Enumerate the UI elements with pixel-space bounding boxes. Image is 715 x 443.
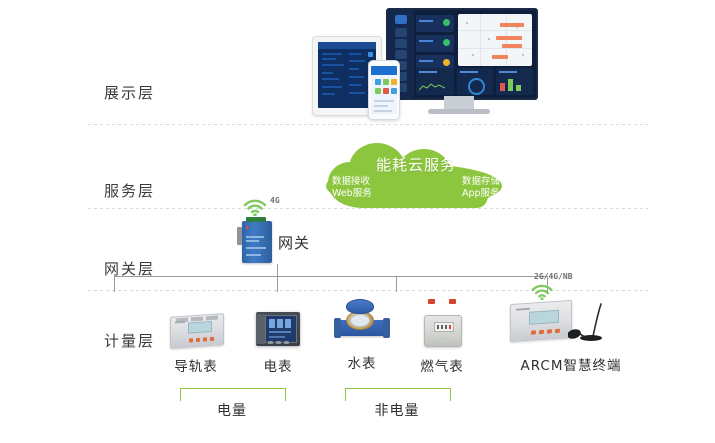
- gateway-trunk-line: [277, 264, 278, 276]
- meter-water: 水表: [324, 300, 400, 372]
- monitor-bottom-widgets: [416, 68, 533, 95]
- cloud-title: 能耗云服务: [318, 154, 514, 175]
- gateway-label: 网关: [278, 232, 310, 253]
- electric-meter-image: [240, 303, 316, 351]
- arcm-terminal-image: [496, 298, 646, 352]
- cloud-feature-column-right: 数据存储 App服务: [462, 176, 500, 200]
- sparkline-chart: [419, 82, 445, 92]
- monitor-screen: [386, 8, 538, 100]
- monitor-base: [428, 109, 490, 114]
- meter-drop-line-2: [277, 276, 278, 292]
- din-rail-meter-label: 导轨表: [158, 355, 234, 375]
- monitor-stand: [444, 96, 474, 110]
- electricity-group-label: 电量: [162, 400, 302, 420]
- antenna-icon: [568, 300, 612, 346]
- gateway-network-label: 4G: [270, 196, 280, 205]
- meter-bus-line: [114, 276, 547, 277]
- meter-drop-line-3: [396, 276, 397, 292]
- smartphone-device: [368, 60, 400, 120]
- meter-din-rail: 导轨表: [158, 303, 234, 375]
- layer-label-service: 服务层: [104, 180, 190, 201]
- meter-electric: 电表: [240, 303, 316, 375]
- architecture-diagram: 展示层 服务层 网关层 计量层: [0, 0, 715, 443]
- layer-separator-1: [88, 124, 648, 125]
- meter-drop-line-1: [114, 276, 115, 292]
- gateway-terminal-block: [246, 217, 266, 222]
- gas-meter-label: 燃气表: [404, 355, 480, 375]
- arcm-network-label: 2G/4G/NB: [534, 272, 573, 281]
- gateway-power-led: [246, 226, 249, 229]
- layer-label-display: 展示层: [104, 82, 190, 103]
- gateway-node: 4G 网关: [232, 196, 352, 256]
- gas-meter-image: [404, 303, 480, 351]
- wifi-icon: [242, 196, 268, 216]
- non-electricity-group-label: 非电量: [327, 400, 467, 420]
- gateway-connector: [237, 227, 242, 245]
- arcm-terminal-node: 2G/4G/NB ARCM智慧终端: [496, 282, 646, 374]
- electric-meter-label: 电表: [240, 355, 316, 375]
- cloud-feature-data-receive: 数据接收: [332, 176, 372, 188]
- arcm-terminal-label: ARCM智慧终端: [496, 354, 646, 374]
- water-meter-label: 水表: [324, 352, 400, 372]
- gateway-device-image: [242, 221, 272, 263]
- cloud-feature-app-service: App服务: [462, 188, 500, 200]
- tablet-header-bar: [318, 42, 376, 49]
- smartphone-screen: [371, 66, 397, 114]
- meter-gas: 燃气表: [404, 303, 480, 375]
- monitor-map-panel: [458, 14, 532, 66]
- display-layer-devices: [300, 8, 545, 120]
- cloud-feature-data-storage: 数据存储: [462, 176, 500, 188]
- smartphone-header-bar: [371, 66, 397, 75]
- water-meter-image: [324, 300, 400, 348]
- din-rail-meter-image: [158, 303, 234, 351]
- monitor-device: [386, 8, 534, 120]
- cloud-feature-columns: 数据接收 Web服务 数据存储 App服务: [332, 176, 500, 200]
